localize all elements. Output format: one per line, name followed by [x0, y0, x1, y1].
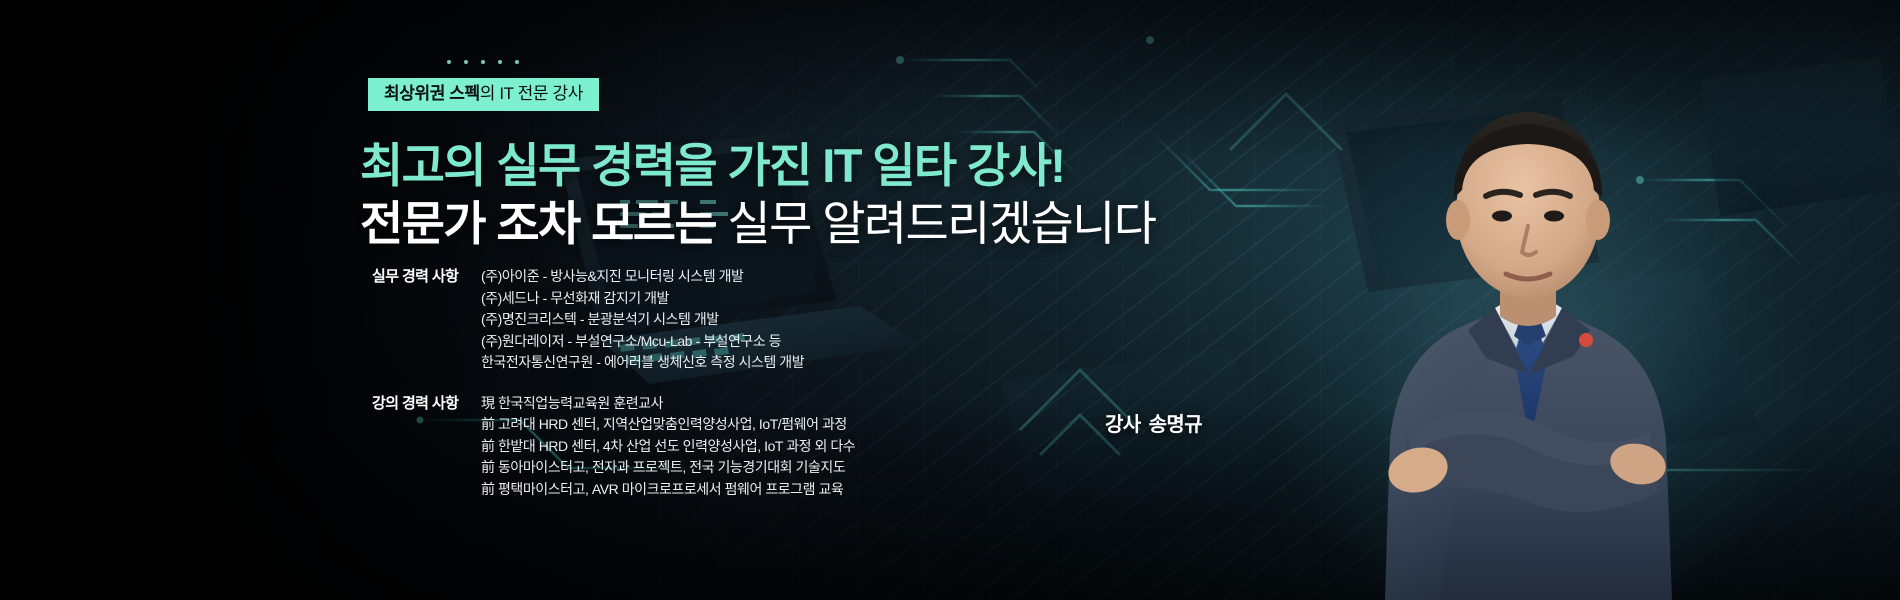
headline-line-2-light: 실무 알려드리겠습니다: [728, 197, 1156, 250]
headline-line-2: 전문가 조차 모르는 실무 알려드리겠습니다: [360, 195, 1100, 253]
dot-icon: [515, 60, 519, 64]
credential-list: 現 한국직업능력교육원 훈련교사 前 고려대 HRD 센터, 지역산업맞춤인력양…: [481, 393, 855, 501]
credential-item: 現 한국직업능력교육원 훈련교사: [481, 393, 855, 415]
banner-content: 최상위권 스펙의 IT 전문 강사 최고의 실무 경력을 가진 IT 일타 강사…: [0, 0, 1100, 600]
credential-label: 실무 경력 사항: [372, 266, 484, 288]
badge-strong-text: 최상위권 스펙: [384, 84, 480, 103]
instructor-portrait-illustration: [1290, 40, 1760, 600]
headline-line-2-bold: 전문가 조차 모르는: [360, 197, 716, 250]
credential-item: (주)원다레이저 - 부설연구소/Mcu-Lab - 부설연구소 등: [481, 331, 804, 353]
credential-block-teaching: 강의 경력 사항 現 한국직업능력교육원 훈련교사 前 고려대 HRD 센터, …: [372, 393, 1092, 501]
headline: 최고의 실무 경력을 가진 IT 일타 강사! 전문가 조차 모르는 실무 알려…: [360, 137, 1100, 253]
credential-item: 前 고려대 HRD 센터, 지역산업맞춤인력양성사업, IoT/펌웨어 과정: [481, 414, 855, 436]
credential-item: 前 동아마이스터고, 전자과 프로젝트, 전국 기능경기대회 기술지도: [481, 457, 855, 479]
credential-item: 前 한밭대 HRD 센터, 4차 산업 선도 인력양성사업, IoT 과정 외 …: [481, 436, 855, 458]
dot-icon: [481, 60, 485, 64]
credential-item: (주)명진크리스텍 - 분광분석기 시스템 개발: [481, 309, 804, 331]
dot-icon: [464, 60, 468, 64]
dot-icon: [447, 60, 451, 64]
instructor-name-tag: 강사송명규: [1105, 408, 1202, 437]
dot-icon: [498, 60, 502, 64]
credential-item: 前 평택마이스터고, AVR 마이크로프로세서 펌웨어 프로그램 교육: [481, 479, 855, 501]
eyebrow-badge: 최상위권 스펙의 IT 전문 강사: [368, 78, 599, 111]
instructor-role-label: 강사: [1105, 414, 1141, 436]
instructor-name: 송명규: [1149, 414, 1202, 436]
headline-line-1: 최고의 실무 경력을 가진 IT 일타 강사!: [360, 137, 1100, 195]
promo-banner: 최상위권 스펙의 IT 전문 강사 최고의 실무 경력을 가진 IT 일타 강사…: [0, 0, 1900, 600]
badge-normal-text: 의 IT 전문 강사: [480, 84, 583, 103]
credential-list: (주)아이준 - 방사능&지진 모니터링 시스템 개발 (주)세드나 - 무선화…: [481, 266, 804, 374]
instructor-photo: [1140, 0, 1900, 600]
credential-item: (주)세드나 - 무선화재 감지기 개발: [481, 288, 804, 310]
credential-item: 한국전자통신연구원 - 에어러블 생체신호 측정 시스템 개발: [481, 352, 804, 374]
credential-block-work: 실무 경력 사항 (주)아이준 - 방사능&지진 모니터링 시스템 개발 (주)…: [372, 266, 1092, 374]
credentials-section: 실무 경력 사항 (주)아이준 - 방사능&지진 모니터링 시스템 개발 (주)…: [372, 266, 1092, 519]
decorative-dots: [447, 60, 519, 64]
credential-label: 강의 경력 사항: [372, 393, 484, 415]
credential-item: (주)아이준 - 방사능&지진 모니터링 시스템 개발: [481, 266, 804, 288]
